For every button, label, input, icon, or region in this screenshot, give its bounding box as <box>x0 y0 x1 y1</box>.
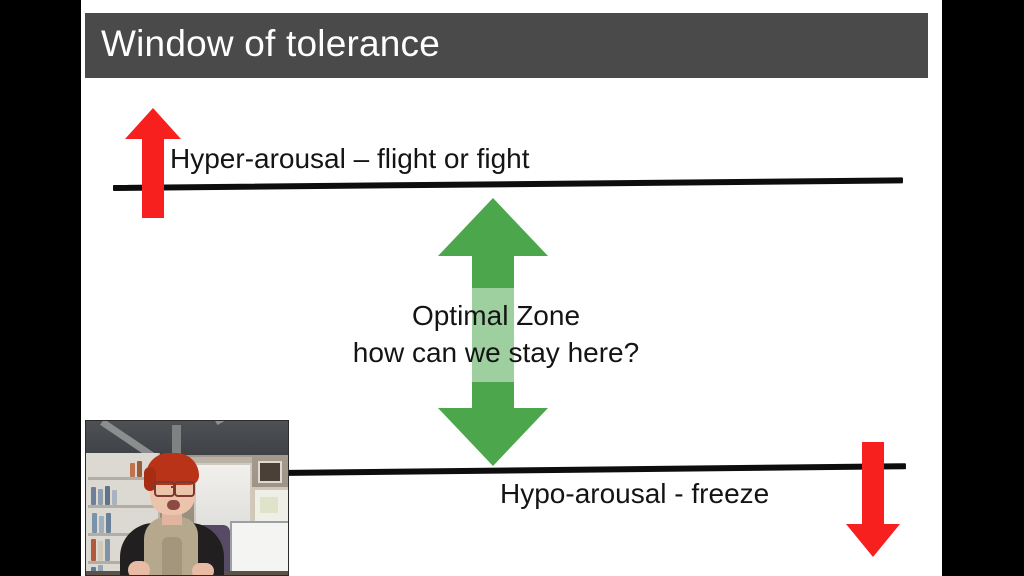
optimal-zone-title: Optimal Zone <box>331 298 661 335</box>
webcam-wall-frame-upper <box>258 461 282 483</box>
hyper-arousal-boundary-line <box>113 177 903 191</box>
webcam-presenter-hand-right <box>192 563 214 576</box>
slide-title-banner: Window of tolerance <box>85 13 928 78</box>
webcam-presenter-mouth <box>167 500 180 510</box>
webcam-ceiling <box>86 421 288 455</box>
arrow-down-icon <box>846 442 900 557</box>
webcam-presenter-glasses-bridge <box>171 486 174 488</box>
optimal-zone-label: Optimal Zone how can we stay here? <box>331 298 661 372</box>
page-title: Window of tolerance <box>101 20 440 68</box>
hypo-arousal-label: Hypo-arousal - freeze <box>500 478 769 510</box>
hyper-arousal-label: Hyper-arousal – flight or fight <box>170 143 530 175</box>
presentation-slide: Window of tolerance Hyper-arousal – <box>81 0 942 576</box>
webcam-presenter-glasses-left <box>154 481 175 497</box>
webcam-presenter-glasses-right <box>174 481 195 497</box>
webcam-roof-beam-apex <box>172 425 181 455</box>
webcam-wall-frame-lower-art <box>260 497 278 513</box>
webcam-presenter-hand-left <box>128 561 150 576</box>
video-player-frame: Window of tolerance Hyper-arousal – <box>0 0 1024 576</box>
webcam-presenter-scarf-fold <box>162 537 182 576</box>
presenter-webcam-inset <box>85 420 289 576</box>
hypo-arousal-boundary-line <box>278 463 906 476</box>
webcam-whiteboard <box>230 521 289 576</box>
optimal-zone-question: how can we stay here? <box>331 335 661 372</box>
